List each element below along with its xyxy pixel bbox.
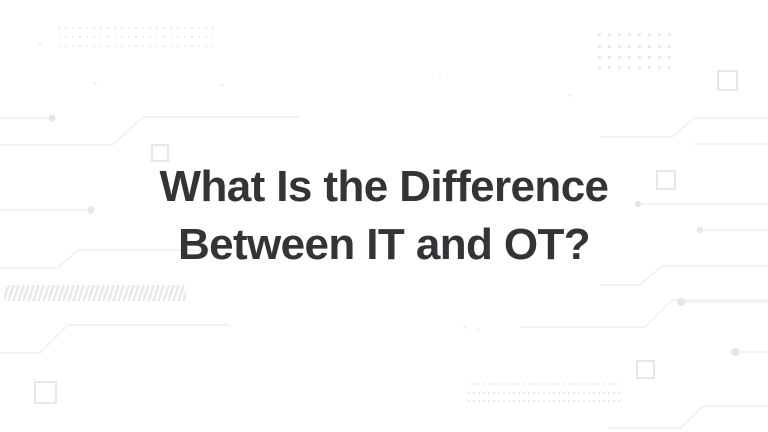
- slide-title-block: What Is the Difference Between IT and OT…: [0, 0, 768, 432]
- page-title-line-2: Between IT and OT?: [178, 216, 590, 274]
- page-title-line-1: What Is the Difference: [160, 158, 609, 216]
- title-slide: What Is the Difference Between IT and OT…: [0, 0, 768, 432]
